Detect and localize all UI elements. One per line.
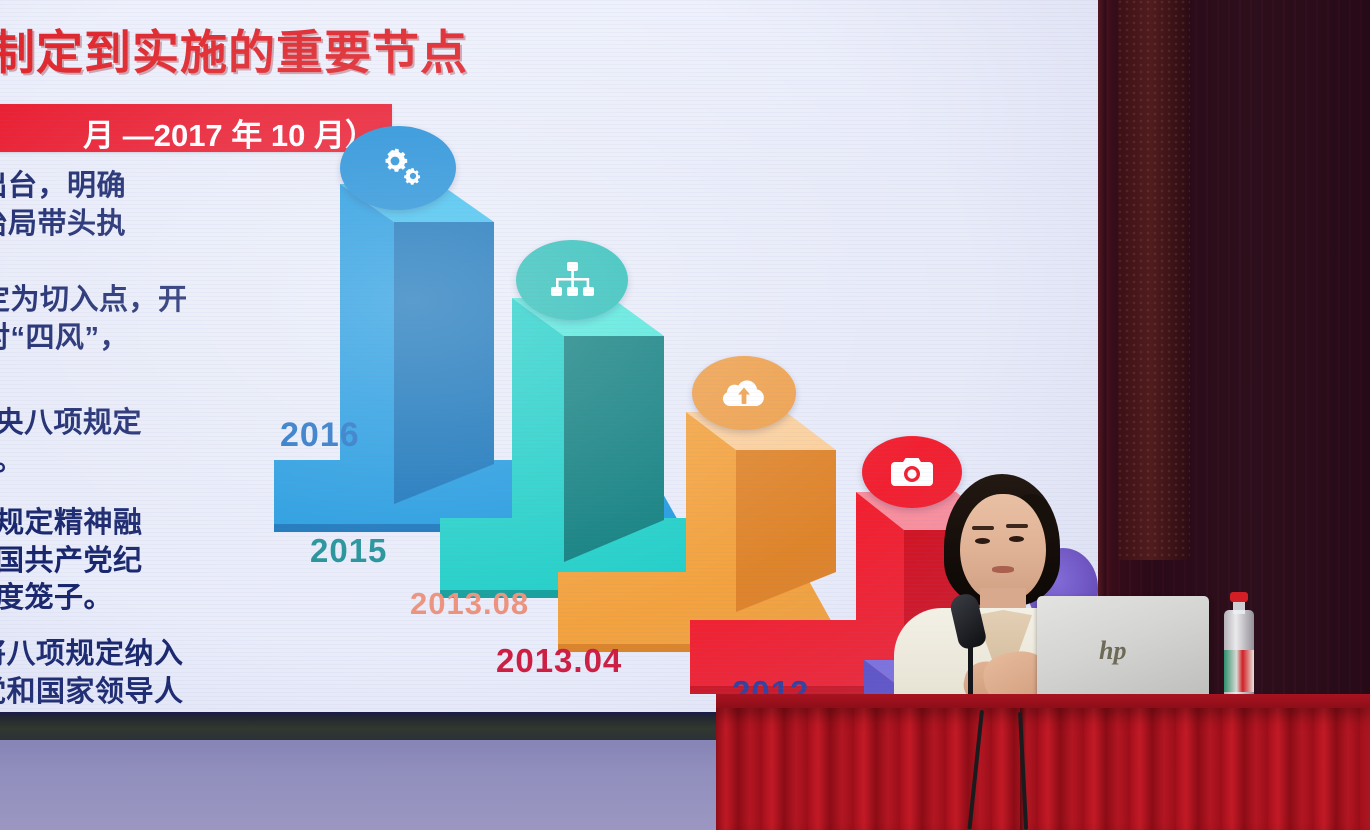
bar-2013-08 <box>686 412 836 612</box>
presenter-brow-left <box>972 526 994 530</box>
slide-paragraph-5: 全会将八项规定纳入 规范党和国家领导人 <box>0 636 184 711</box>
chart-label-2015: 2015 <box>310 532 387 570</box>
slide-paragraph-3: 落实中央八项规定 定检查。 <box>0 405 142 480</box>
bottle-label <box>1224 650 1254 692</box>
presenter-eye-left <box>975 538 990 544</box>
presentation-photo: 从制定到实施的重要节点 月 —2017 年 10 月） 定正式出台，明确 中央政… <box>0 0 1370 830</box>
sitemap-icon <box>516 240 628 320</box>
presenter-face <box>960 494 1046 602</box>
gears-icon-glyph <box>372 146 424 190</box>
slide-paragraph-1: 定正式出台，明确 中央政治局带头执 <box>0 168 126 243</box>
table-skirt <box>716 708 1370 830</box>
stage-floor <box>0 740 760 830</box>
slide-title: 从制定到实施的重要节点 <box>0 14 700 83</box>
hp-logo: hp <box>1099 636 1126 666</box>
bottle-cap <box>1230 592 1248 602</box>
chart-label-2013-04: 2013.04 <box>496 642 622 680</box>
chart-label-2013-08: 2013.08 <box>410 586 529 622</box>
slide-paragraph-4: 八项规定精神融 《中国共产党纪 紧制度笼子。 <box>0 505 143 618</box>
bar-2015 <box>512 298 664 562</box>
water-bottle <box>1222 592 1256 708</box>
presenter-mouth <box>992 566 1014 573</box>
presenter-eye-right <box>1009 536 1024 542</box>
cloud-upload-icon <box>692 356 796 430</box>
bar-2016 <box>340 184 494 504</box>
chart-label-2016: 2016 <box>280 416 360 455</box>
gears-icon <box>340 126 456 210</box>
presenter-brow-right <box>1006 524 1028 528</box>
slide-paragraph-2: 项规定为切入点，开 焦反对“四风”， 。 <box>0 282 188 395</box>
sitemap-icon-glyph <box>549 260 595 300</box>
laptop: hp <box>1037 596 1209 702</box>
cloud-upload-icon-glyph <box>721 376 767 410</box>
